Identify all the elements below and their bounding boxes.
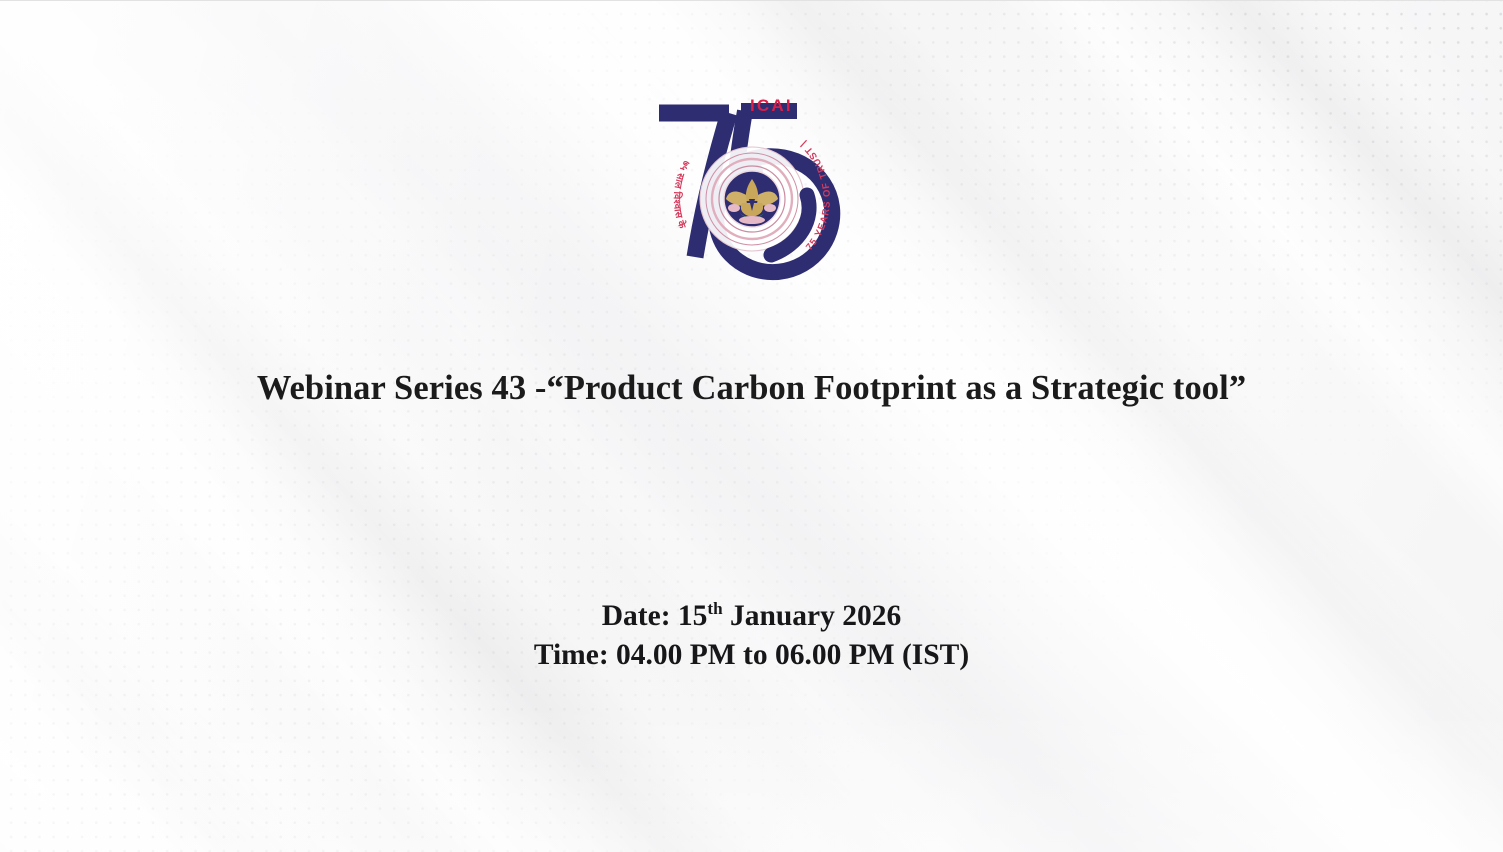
svg-text:७५ साल विश्वास के: ७५ साल विश्वास के	[670, 158, 691, 230]
event-date-line: Date: 15th January 2026	[0, 597, 1503, 636]
date-ordinal-suffix: th	[707, 599, 722, 618]
logo-acronym-text: ICAI	[750, 96, 793, 115]
date-day: 15	[678, 600, 708, 632]
logo-container: ICAI	[0, 87, 1503, 293]
icai-75-years-logo: ICAI	[645, 87, 859, 293]
date-label: Date:	[602, 600, 671, 632]
logo-tagline-hindi: ७५ साल विश्वास के	[670, 158, 691, 230]
event-time-line: Time: 04.00 PM to 06.00 PM (IST)	[0, 636, 1503, 675]
event-details: Date: 15th January 2026 Time: 04.00 PM t…	[0, 597, 1503, 675]
page-title: Webinar Series 43 -“Product Carbon Footp…	[0, 369, 1503, 408]
date-month-year: January 2026	[730, 600, 901, 632]
webinar-announcement-slide: ICAI	[0, 0, 1503, 852]
